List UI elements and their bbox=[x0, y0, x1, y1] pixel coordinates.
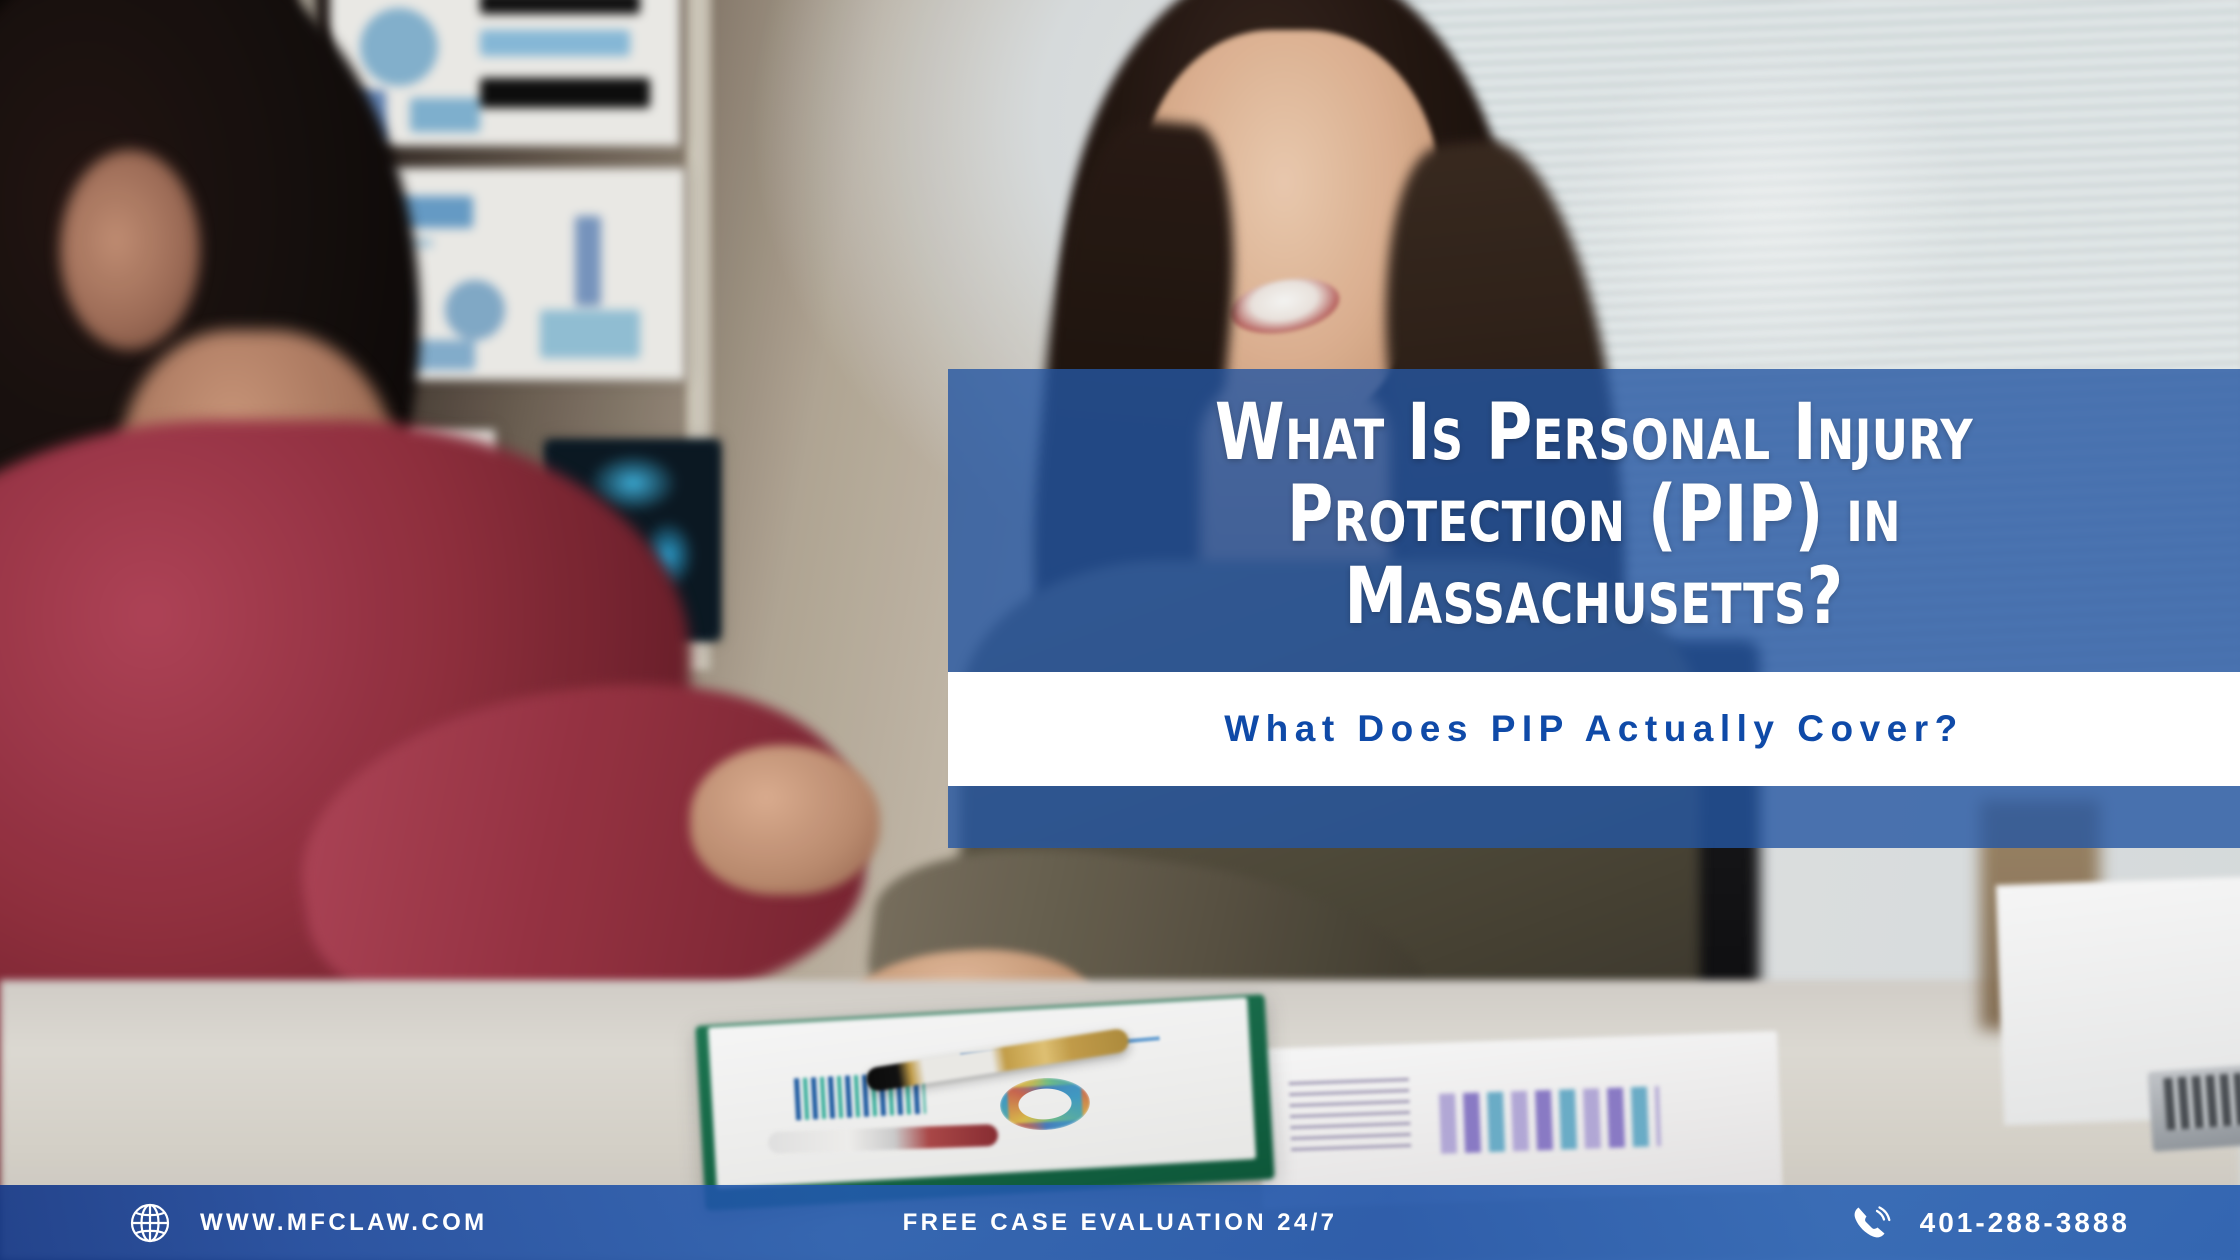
footer-phone-group[interactable]: 401-288-3888 bbox=[1848, 1200, 2130, 1246]
footer-phone-number[interactable]: 401-288-3888 bbox=[1920, 1207, 2130, 1239]
subheadline-bar: What Does PIP Actually Cover? bbox=[948, 672, 2240, 786]
page-subtitle: What Does PIP Actually Cover? bbox=[1224, 708, 1964, 750]
page-title: What Is Personal Injury Protection (PIP)… bbox=[1013, 392, 2176, 638]
banner-image: What Is Personal Injury Protection (PIP)… bbox=[0, 0, 2240, 1260]
phone-ringing-icon bbox=[1848, 1200, 1894, 1246]
contact-footer-bar: FREE CASE EVALUATION 24/7 WWW.MFCLAW.COM bbox=[0, 1185, 2240, 1260]
footer-website-group[interactable]: WWW.MFCLAW.COM bbox=[128, 1201, 488, 1245]
footer-website-url[interactable]: WWW.MFCLAW.COM bbox=[200, 1209, 488, 1237]
footer-tagline: FREE CASE EVALUATION 24/7 bbox=[903, 1209, 1338, 1236]
globe-icon bbox=[128, 1201, 172, 1245]
